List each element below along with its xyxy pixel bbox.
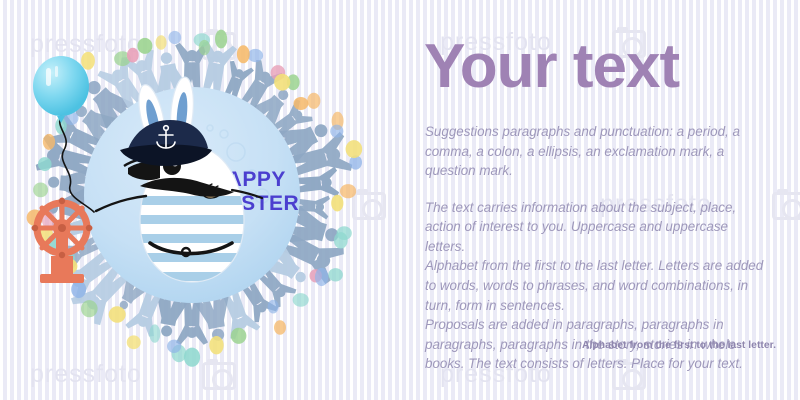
- poster-canvas: pressfotopressfotopressfotopressfotopres…: [0, 0, 800, 400]
- balloon: [38, 157, 52, 171]
- balloon: [328, 268, 343, 281]
- easter-illustration: HAPPY EASTER: [0, 0, 400, 400]
- balloon: [293, 293, 309, 307]
- balloon: [109, 306, 126, 322]
- balloon: [274, 74, 290, 91]
- balloon: [127, 335, 141, 349]
- balloon: [71, 281, 86, 298]
- text-panel: Your text Suggestions paragraphs and pun…: [424, 0, 800, 400]
- balloon: [334, 232, 348, 249]
- balloon: [33, 183, 48, 198]
- balloon: [268, 300, 279, 314]
- balloon: [315, 268, 328, 286]
- balloon: [127, 48, 139, 63]
- balloon: [237, 45, 250, 63]
- balloon: [43, 134, 55, 150]
- balloon: [184, 348, 200, 367]
- balloon: [81, 300, 98, 317]
- balloon: [168, 31, 181, 44]
- paragraph-3: Alphabet from the first to the last lett…: [425, 256, 769, 315]
- balloon: [274, 320, 286, 334]
- balloon: [167, 340, 181, 353]
- balloon: [248, 49, 263, 62]
- balloon: [81, 52, 95, 70]
- balloon: [156, 35, 167, 50]
- footnote: Alphabet from the first to the last lett…: [582, 340, 776, 351]
- paragraph-2: The text carries information about the s…: [425, 198, 769, 257]
- body-copy: Suggestions paragraphs and punctuation: …: [425, 122, 769, 374]
- balloon: [330, 125, 343, 138]
- balloon: [340, 184, 356, 198]
- balloon: [331, 195, 343, 212]
- balloon: [346, 140, 363, 158]
- balloon: [209, 336, 223, 354]
- balloon: [294, 97, 309, 110]
- paragraph-1: Suggestions paragraphs and punctuation: …: [425, 122, 769, 181]
- balloon: [149, 324, 160, 342]
- page-title: Your text: [424, 36, 679, 98]
- balloon: [199, 40, 210, 55]
- balloon: [307, 93, 320, 109]
- balloon: [137, 38, 152, 54]
- balloon: [215, 30, 227, 49]
- balloon: [231, 328, 247, 344]
